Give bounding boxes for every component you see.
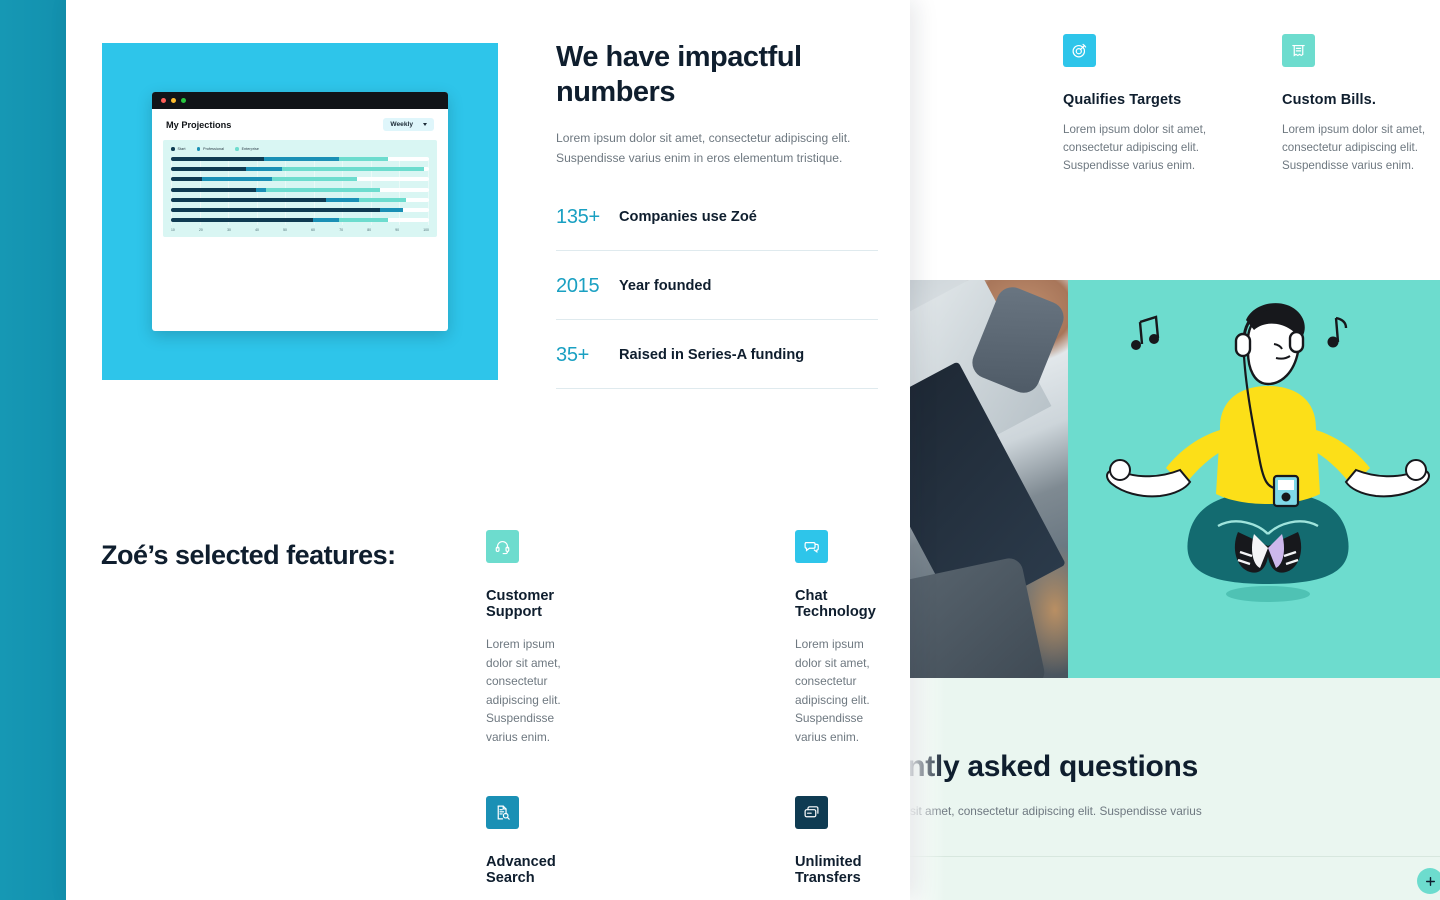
chart-bar-row bbox=[171, 198, 429, 202]
left-accent-strip bbox=[0, 0, 66, 900]
mockup-header: My Projections Weekly bbox=[152, 109, 448, 137]
chart-bar-row bbox=[171, 188, 429, 192]
chart-bar-remainder bbox=[424, 167, 429, 171]
chart-bar-remainder bbox=[403, 208, 429, 212]
chart-bar-segment bbox=[171, 167, 246, 171]
section-paragraph: Lorem ipsum dolor sit amet, consectetur … bbox=[556, 129, 878, 168]
chevron-down-icon bbox=[423, 123, 427, 126]
impact-numbers-section: We have impactful numbers Lorem ipsum do… bbox=[556, 40, 878, 389]
feature-card-title: Qualifies Targets bbox=[1063, 92, 1263, 108]
chart-bar-segment bbox=[326, 198, 360, 202]
chart-bar-segment bbox=[266, 188, 380, 192]
chart-x-tick: 40 bbox=[255, 228, 259, 232]
target-icon bbox=[1063, 34, 1096, 67]
plus-icon bbox=[1424, 875, 1437, 888]
legend-label: Enterprise bbox=[242, 147, 259, 151]
chart-x-axis: 102030405060708090100 bbox=[171, 228, 429, 232]
stat-row: 2015 Year founded bbox=[556, 251, 878, 320]
chart-bar-remainder bbox=[357, 177, 429, 181]
chart-bar-segment bbox=[282, 167, 424, 171]
feature-card-advanced-search[interactable]: Advanced Search Lorem ipsum dolor sit am… bbox=[486, 796, 577, 900]
feature-card-title: Custom Bills. bbox=[1282, 92, 1440, 108]
chart-bar-segment bbox=[256, 188, 266, 192]
chart-bars bbox=[171, 157, 429, 222]
page-title: We have impactful numbers bbox=[556, 40, 878, 110]
chart-bar-segment bbox=[359, 198, 405, 202]
chart-bar-segment bbox=[339, 218, 388, 222]
legend-swatch-icon bbox=[197, 147, 201, 151]
chart-bar-remainder bbox=[388, 218, 429, 222]
chart-x-tick: 90 bbox=[395, 228, 399, 232]
background-feature-cards: Qualifies Targets Lorem ipsum dolor sit … bbox=[905, 0, 1440, 272]
chart-x-tick: 80 bbox=[367, 228, 371, 232]
chart-x-tick: 100 bbox=[423, 228, 429, 232]
chart-bar-segment bbox=[272, 177, 357, 181]
transfer-cards-icon bbox=[795, 796, 828, 829]
chart-x-tick: 10 bbox=[171, 228, 175, 232]
chart-x-tick: 50 bbox=[283, 228, 287, 232]
chart-legend: Start Professional Enterprise bbox=[171, 147, 429, 151]
browser-window: My Projections Weekly Start bbox=[152, 92, 448, 331]
document-search-icon bbox=[486, 796, 519, 829]
projections-chart: Start Professional Enterprise bbox=[163, 140, 437, 237]
chart-bar-remainder bbox=[380, 188, 429, 192]
chart-bar-row bbox=[171, 208, 429, 212]
faq-divider bbox=[905, 856, 1440, 857]
faq-section: Frequently asked questions Lorem ipsum d… bbox=[905, 678, 1440, 900]
foreground-page: My Projections Weekly Start bbox=[66, 0, 910, 900]
legend-item: Professional bbox=[197, 147, 224, 151]
feature-card-customer-support[interactable]: Customer Support Lorem ipsum dolor sit a… bbox=[486, 530, 577, 746]
page-root: Qualifies Targets Lorem ipsum dolor sit … bbox=[0, 0, 1440, 900]
stat-value: 35+ bbox=[556, 344, 600, 367]
receipt-icon bbox=[1282, 34, 1315, 67]
legend-swatch-icon bbox=[235, 147, 239, 151]
feature-card-title: Chat Technology bbox=[795, 588, 886, 620]
legend-label: Professional bbox=[203, 147, 224, 151]
features-heading: Zoé’s selected features: bbox=[101, 538, 401, 573]
chart-bar-segment bbox=[202, 177, 272, 181]
chart-bar-segment bbox=[380, 208, 403, 212]
feature-card-body: Lorem ipsum dolor sit amet, consectetur … bbox=[795, 635, 886, 746]
chart-bar-segment bbox=[264, 157, 339, 161]
period-dropdown[interactable]: Weekly bbox=[383, 118, 434, 131]
stat-value: 135+ bbox=[556, 206, 600, 229]
feature-card-custom-bills[interactable]: Custom Bills. Lorem ipsum dolor sit amet… bbox=[1282, 34, 1440, 175]
chart-bar-segment bbox=[313, 218, 339, 222]
feature-card-qualifies-targets[interactable]: Qualifies Targets Lorem ipsum dolor sit … bbox=[1063, 34, 1263, 175]
chart-x-tick: 60 bbox=[311, 228, 315, 232]
feature-card-unlimited-transfers[interactable]: Unlimited Transfers Lorem ipsum dolor si… bbox=[795, 796, 886, 900]
chart-bar-row bbox=[171, 167, 429, 171]
chart-x-tick: 70 bbox=[339, 228, 343, 232]
legend-item: Enterprise bbox=[235, 147, 259, 151]
close-dot-icon[interactable] bbox=[161, 98, 166, 103]
feature-card-body: Lorem ipsum dolor sit amet, consectetur … bbox=[1282, 121, 1440, 175]
feature-card-title: Unlimited Transfers bbox=[795, 854, 886, 886]
browser-titlebar bbox=[152, 92, 448, 109]
period-value: Weekly bbox=[390, 121, 413, 128]
chart-bar-row bbox=[171, 157, 429, 161]
stat-row: 35+ Raised in Series-A funding bbox=[556, 320, 878, 389]
chat-bubbles-icon bbox=[795, 530, 828, 563]
stat-label: Companies use Zoé bbox=[619, 209, 757, 225]
meditation-illustration bbox=[1068, 280, 1440, 678]
minimize-dot-icon[interactable] bbox=[171, 98, 176, 103]
chart-bar-segment bbox=[171, 188, 256, 192]
chart-x-tick: 30 bbox=[227, 228, 231, 232]
chart-x-tick: 20 bbox=[199, 228, 203, 232]
legend-swatch-icon bbox=[171, 147, 175, 151]
chart-bar-segment bbox=[171, 208, 380, 212]
feature-card-title: Advanced Search bbox=[486, 854, 577, 886]
chart-bar-segment bbox=[246, 167, 282, 171]
legend-item: Start bbox=[171, 147, 186, 151]
faq-expand-button[interactable] bbox=[1417, 868, 1440, 894]
chart-bar-row bbox=[171, 218, 429, 222]
chart-bar-remainder bbox=[406, 198, 429, 202]
stat-value: 2015 bbox=[556, 275, 600, 298]
feature-card-body: Lorem ipsum dolor sit amet, consectetur … bbox=[1063, 121, 1263, 175]
chart-bar-segment bbox=[171, 198, 326, 202]
legend-label: Start bbox=[178, 147, 186, 151]
chart-bar-segment bbox=[171, 177, 202, 181]
headset-icon bbox=[486, 530, 519, 563]
feature-card-chat-technology[interactable]: Chat Technology Lorem ipsum dolor sit am… bbox=[795, 530, 886, 746]
laptop-photo bbox=[905, 280, 1068, 678]
app-mockup-frame: My Projections Weekly Start bbox=[102, 43, 498, 380]
chart-bar-segment bbox=[171, 157, 264, 161]
maximize-dot-icon[interactable] bbox=[181, 98, 186, 103]
chart-bar-row bbox=[171, 177, 429, 181]
stat-label: Raised in Series-A funding bbox=[619, 347, 804, 363]
chart-bar-remainder bbox=[388, 157, 429, 161]
feature-card-body: Lorem ipsum dolor sit amet, consectetur … bbox=[486, 635, 577, 746]
mockup-title: My Projections bbox=[166, 120, 231, 130]
feature-card-title: Customer Support bbox=[486, 588, 577, 620]
stat-label: Year founded bbox=[619, 278, 711, 294]
features-grid: Customer Support Lorem ipsum dolor sit a… bbox=[486, 530, 886, 900]
stat-row: 135+ Companies use Zoé bbox=[556, 182, 878, 251]
chart-bar-segment bbox=[339, 157, 388, 161]
chart-bar-segment bbox=[171, 218, 313, 222]
